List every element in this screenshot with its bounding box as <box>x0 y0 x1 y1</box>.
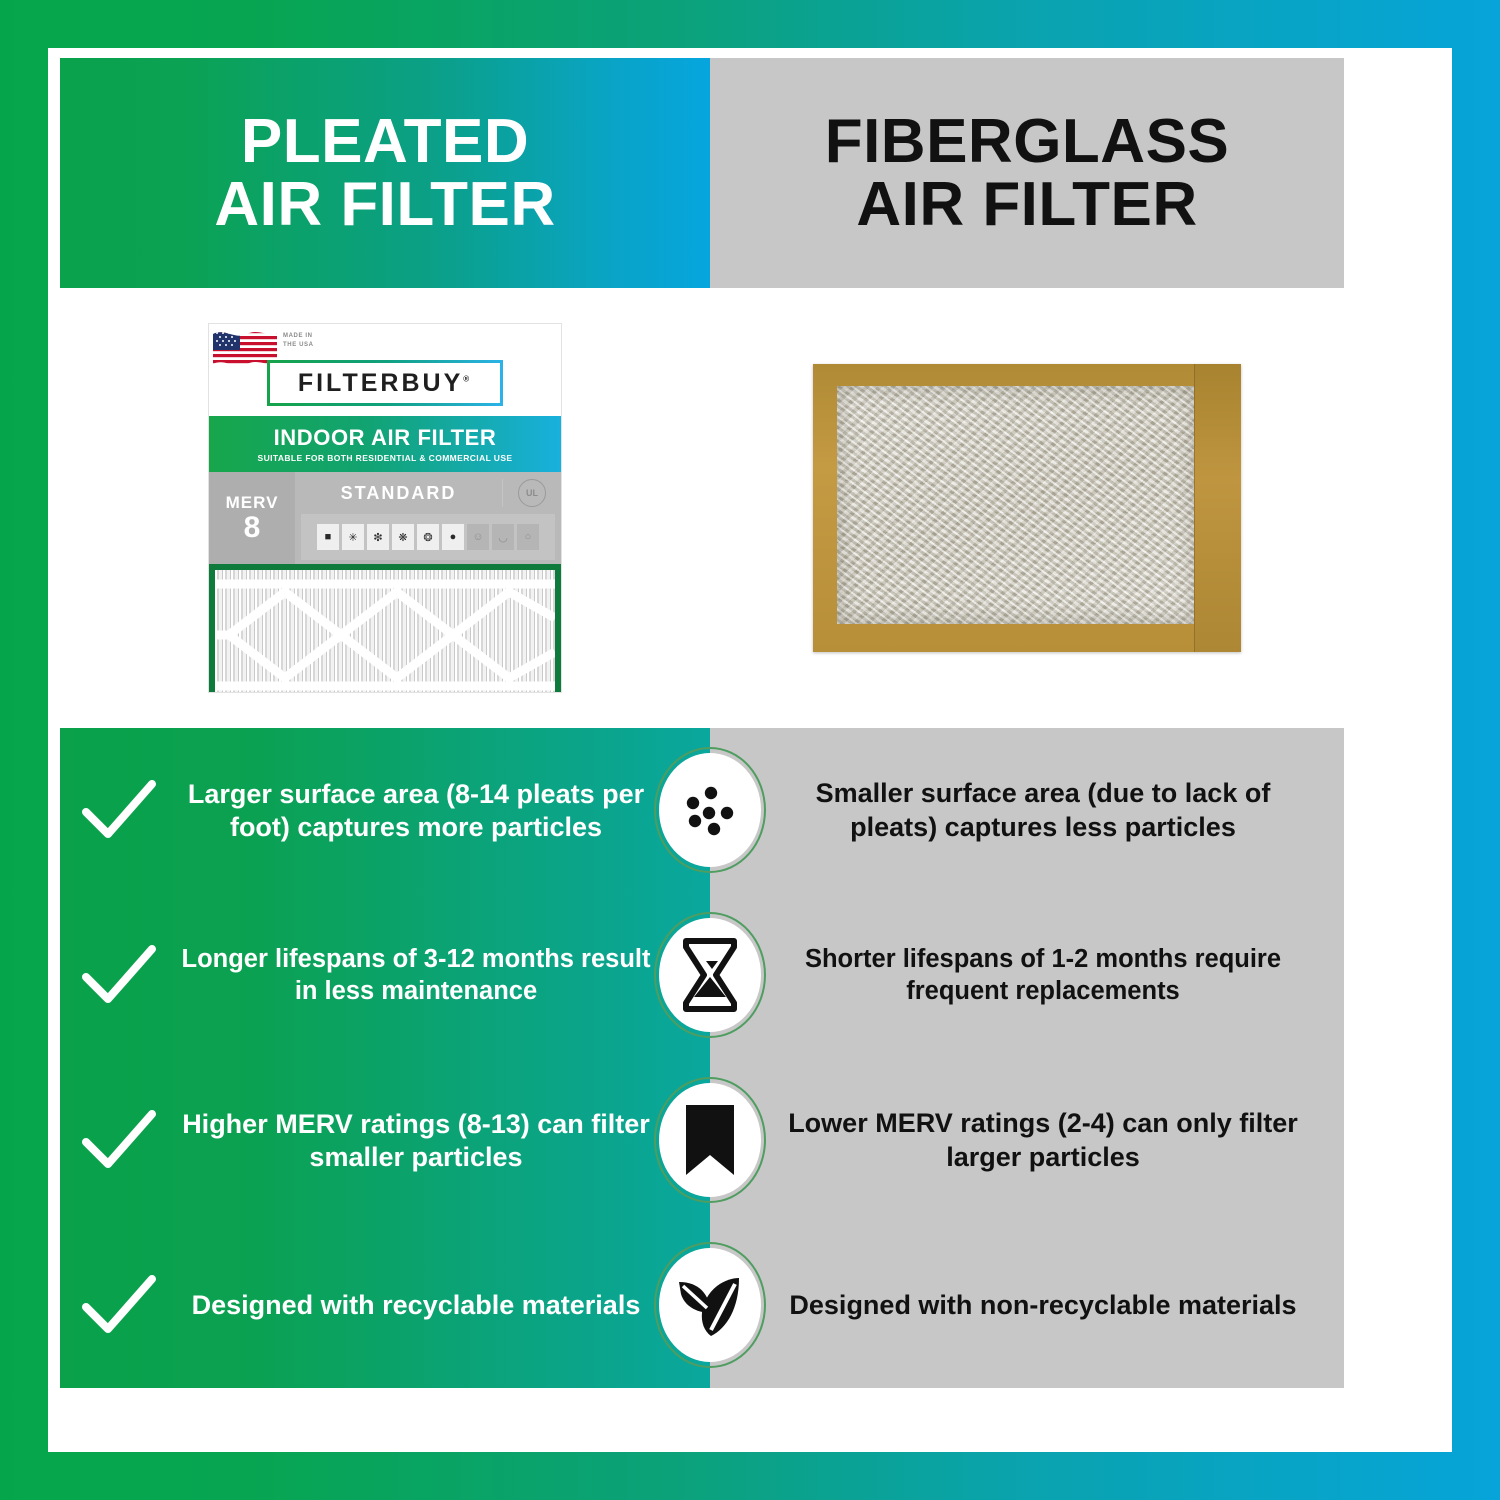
benefit-row-3: Higher MERV ratings (8-13) can filter sm… <box>60 1058 710 1223</box>
drawback-row-4: Designed with non-recyclable materials <box>710 1223 1344 1388</box>
drawback-row-3: Lower MERV ratings (2-4) can only filter… <box>710 1058 1344 1223</box>
filterbuy-brand-word: FILTERBUY <box>298 369 463 397</box>
fiberglass-frame-corner <box>1194 364 1241 652</box>
filterbuy-logo-text: FILTERBUY® <box>298 369 472 398</box>
benefit-text-2: Longer lifespans of 3-12 months result i… <box>178 944 710 1006</box>
merv-value: 8 <box>244 513 261 543</box>
filterbuy-trademark: ® <box>463 374 472 383</box>
filterbuy-logo: FILTERBUY® <box>267 360 503 406</box>
merv-label: MERV <box>226 493 279 513</box>
made-in-usa-line1: MADE IN <box>283 333 313 339</box>
made-in-usa-line2: THE USA <box>283 342 314 348</box>
dust-mites-icon: ✳ <box>342 524 364 550</box>
drawback-row-1: Smaller surface area (due to lack of ple… <box>710 728 1344 893</box>
header-fiberglass-title: FIBERGLASS AIR FILTER <box>825 110 1230 236</box>
fiberglass-media <box>837 386 1197 624</box>
header-pleated-line1: PLEATED <box>241 107 529 176</box>
spec-main: STANDARD UL ■ ✳ ❇ ❋ ❂ ● ☺ ◡ ○ <box>295 472 561 564</box>
drawback-text-4: Designed with non-recyclable materials <box>710 1289 1344 1323</box>
grade-label: STANDARD <box>295 483 502 504</box>
header-pleated-line2: AIR FILTER <box>214 170 555 239</box>
check-icon-2 <box>60 945 178 1007</box>
header-fiberglass-line1: FIBERGLASS <box>825 107 1230 176</box>
odor-icon: ◡ <box>492 524 514 550</box>
benefit-row-1: Larger surface area (8-14 pleats per foo… <box>60 728 710 893</box>
mold-icon: ❋ <box>392 524 414 550</box>
benefit-row-4: Designed with recyclable materials <box>60 1223 710 1388</box>
pollen-icon: ❇ <box>367 524 389 550</box>
pleated-media-texture <box>215 570 555 692</box>
fiberglass-filter-image <box>813 364 1241 652</box>
header-fiberglass-line2: AIR FILTER <box>856 170 1197 239</box>
grade-row: STANDARD UL <box>295 472 561 514</box>
header-fiberglass: FIBERGLASS AIR FILTER <box>710 58 1344 288</box>
support-mesh-icon <box>215 570 555 692</box>
pleated-media-window: FILTERBUY <box>209 564 561 692</box>
drawback-text-1: Smaller surface area (due to lack of ple… <box>710 777 1344 845</box>
smoke-icon: ☺ <box>467 524 489 550</box>
drawback-text-3: Lower MERV ratings (2-4) can only filter… <box>710 1107 1344 1175</box>
banner-subtitle: SUITABLE FOR BOTH RESIDENTIAL & COMMERCI… <box>258 453 513 463</box>
ul-certification: UL <box>502 479 561 507</box>
check-icon-1 <box>60 780 178 842</box>
benefit-text-1: Larger surface area (8-14 pleats per foo… <box>178 778 710 844</box>
benefit-row-2: Longer lifespans of 3-12 months result i… <box>60 893 710 1058</box>
bacteria-icon: ❂ <box>417 524 439 550</box>
check-icon-4 <box>60 1275 178 1337</box>
dust-lint-icon: ■ <box>317 524 339 550</box>
header-row: PLEATED AIR FILTER FIBERGLASS AIR FILTER <box>60 58 1344 288</box>
indoor-air-filter-banner: INDOOR AIR FILTER SUITABLE FOR BOTH RESI… <box>209 416 561 472</box>
header-pleated: PLEATED AIR FILTER <box>60 58 710 288</box>
virus-icon: ○ <box>517 524 539 550</box>
pleated-product-cell: MADE IN THE USA FILTERBUY® INDOOR AIR FI… <box>60 288 710 728</box>
product-image-band: MADE IN THE USA FILTERBUY® INDOOR AIR FI… <box>60 288 1344 728</box>
ul-mark-icon: UL <box>518 479 546 507</box>
benefit-text-4: Designed with recyclable materials <box>178 1289 710 1322</box>
drawback-row-2: Shorter lifespans of 1-2 months require … <box>710 893 1344 1058</box>
header-pleated-title: PLEATED AIR FILTER <box>214 110 555 236</box>
filterbuy-box-image: MADE IN THE USA FILTERBUY® INDOOR AIR FI… <box>209 324 561 692</box>
pleated-benefits-column: Larger surface area (8-14 pleats per foo… <box>60 728 710 1388</box>
comparison-panel: Larger surface area (8-14 pleats per foo… <box>60 728 1344 1388</box>
capability-icon-strip: ■ ✳ ❇ ❋ ❂ ● ☺ ◡ ○ <box>301 514 555 560</box>
fiberglass-drawbacks-column: Smaller surface area (due to lack of ple… <box>710 728 1344 1388</box>
drawback-text-2: Shorter lifespans of 1-2 months require … <box>710 944 1344 1008</box>
check-icon-3 <box>60 1110 178 1172</box>
merv-badge: MERV 8 <box>209 472 295 564</box>
filterbuy-spec-band: MERV 8 STANDARD UL ■ ✳ ❇ ❋ <box>209 472 561 564</box>
made-in-usa-caption: MADE IN THE USA <box>283 332 314 350</box>
filterbuy-box-top: MADE IN THE USA FILTERBUY® <box>209 324 561 416</box>
banner-title: INDOOR AIR FILTER <box>274 425 497 451</box>
benefit-text-3: Higher MERV ratings (8-13) can filter sm… <box>178 1108 710 1174</box>
fiberglass-product-cell <box>710 288 1344 728</box>
pet-dander-icon: ● <box>442 524 464 550</box>
